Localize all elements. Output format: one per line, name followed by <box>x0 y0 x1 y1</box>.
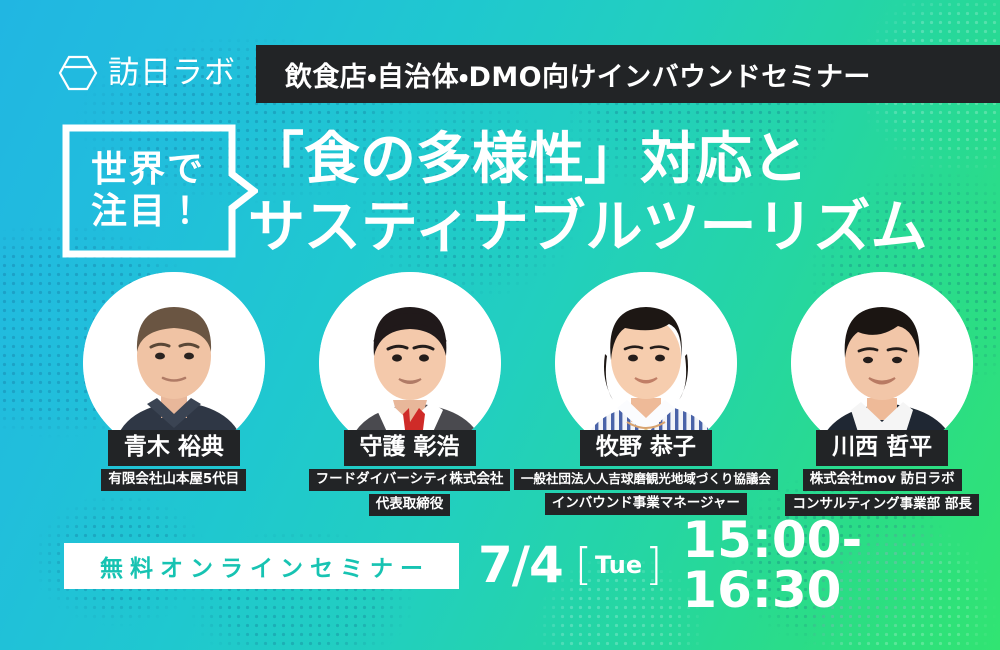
speaker-card[interactable]: 牧野 恭子 一般社団法人人吉球磨観光地域づくり協議会 インバウンド事業マネージャ… <box>533 272 758 522</box>
speaker-photo-shugo <box>319 272 501 454</box>
speaker-name: 川西 哲平 <box>816 430 948 466</box>
page-title: 「食の多様性」対応と サスティナブルツーリズム <box>248 126 988 262</box>
event-datetime: 7/4 [ Tue ] 15:00-16:30 <box>478 530 1000 600</box>
event-time-range: 15:00-16:30 <box>682 515 1000 615</box>
speaker-org-line-1: 一般社団法人人吉球磨観光地域づくり協議会 <box>514 469 778 490</box>
speaker-photo-kawanishi <box>791 272 973 454</box>
header-banner: 飲食店・自治体・DMO向けインバウンドセミナー <box>256 45 1000 103</box>
title-line-1: 「食の多様性」対応と <box>248 126 988 193</box>
attention-badge: 世界で 注目！ <box>62 124 258 258</box>
event-day-of-week-wrap: [ Tue ] <box>575 543 662 587</box>
speaker-card[interactable]: 青木 裕典 有限会社山本屋5代目 <box>62 272 286 522</box>
badge-line-1: 世界で <box>91 150 205 190</box>
free-seminar-badge: 無料オンラインセミナー <box>64 543 459 589</box>
header-banner-text: 飲食店・自治体・DMO向けインバウンドセミナー <box>285 55 871 94</box>
speaker-org-line-1: 株式会社mov 訪日ラボ <box>803 469 962 491</box>
speaker-org-line-2: 代表取締役 <box>369 494 451 516</box>
speaker-name: 守護 彰浩 <box>344 430 476 466</box>
speaker-org-line-2: コンサルティング事業部 部長 <box>785 494 978 516</box>
speaker-photo-makino <box>555 272 737 454</box>
free-seminar-label: 無料オンラインセミナー <box>93 549 430 583</box>
speaker-card[interactable]: 守護 彰浩 フードダイバーシティ株式会社 代表取締役 <box>298 272 522 522</box>
speaker-org-line-1: フードダイバーシティ株式会社 <box>309 469 511 491</box>
badge-line-2: 注目！ <box>91 192 205 232</box>
title-line-2: サスティナブルツーリズム <box>248 193 988 261</box>
brand-logo[interactable]: 訪日ラボ <box>58 52 236 94</box>
speaker-org-line-2: インバウンド事業マネージャー <box>545 493 747 515</box>
event-date: 7/4 <box>478 540 563 590</box>
speaker-org-line-1: 有限会社山本屋5代目 <box>101 469 246 491</box>
hexagon-logo-icon <box>58 54 98 92</box>
bracket-open: [ <box>575 543 592 587</box>
event-day-of-week: Tue <box>592 553 645 577</box>
speaker-list: 青木 裕典 有限会社山本屋5代目 <box>0 272 1000 522</box>
speaker-card[interactable]: 川西 哲平 株式会社mov 訪日ラボ コンサルティング事業部 部長 <box>770 272 994 522</box>
speaker-name: 牧野 恭子 <box>580 430 712 466</box>
bracket-close: ] <box>645 543 662 587</box>
seminar-poster: 訪日ラボ 飲食店・自治体・DMO向けインバウンドセミナー 世界で 注目！ 「食の… <box>0 0 1000 650</box>
brand-wordmark: 訪日ラボ <box>108 58 236 89</box>
speaker-name: 青木 裕典 <box>108 430 240 466</box>
speaker-photo-aoki <box>83 272 265 454</box>
